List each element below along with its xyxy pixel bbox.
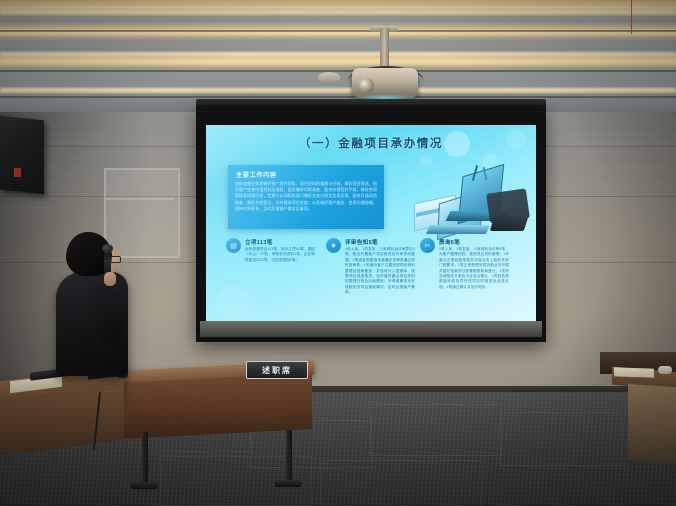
smoke-detector-icon [318, 72, 340, 82]
slide-title: （一）金融项目承办情况 [206, 135, 536, 151]
dark-device-base [490, 217, 529, 231]
ceiling-light-strip [0, 88, 676, 93]
wall-speaker-icon [0, 116, 44, 195]
microphone-head-icon [102, 244, 113, 253]
column-body: 1笔入库、1笔发放、入库资料及评审6笔，为客户整理归档，规范项目资料管理；1年度… [439, 247, 509, 290]
highlight-box-heading: 主要工作内容 [236, 170, 277, 179]
object-on-right-table [658, 366, 672, 374]
screen-bottom-bar [200, 321, 542, 337]
document-icon: ▤ [226, 238, 241, 253]
podium-leg [142, 432, 148, 484]
podium-body [120, 373, 312, 439]
podium-sign: 述职席 [246, 361, 308, 379]
papers-on-right-table [614, 367, 654, 377]
presenter-hand [104, 272, 116, 286]
ceiling [0, 0, 676, 112]
podium-foot [130, 482, 158, 489]
ceiling-seam [0, 70, 676, 72]
column-heading: 评审告知5笔 [345, 238, 378, 246]
projector-lens-icon [359, 78, 374, 93]
podium-foot [274, 480, 302, 487]
conference-room-photo: （一）金融项目承办情况 主要工作内容 协助金融业务部做好推广宣传资料、项目资料的… [0, 0, 676, 506]
speaker-logo [14, 168, 21, 177]
window-frame-reflection [106, 198, 174, 200]
ceiling-seam [0, 30, 676, 32]
ceiling-seam [0, 96, 676, 98]
ceiling-wire [631, 0, 633, 34]
ceiling-light-strip [0, 52, 676, 57]
podium-sign-text: 述职席 [262, 365, 292, 376]
carpet-tile [370, 404, 502, 456]
wall-shadow-right [556, 112, 676, 392]
column-heading: 立项113笔 [245, 238, 273, 246]
column-body: 4月入库、1项发放、入库资料及评审意见2笔，配合开展客户项目推进及评审资料整理，… [345, 247, 415, 296]
globe-icon: ✷ [326, 238, 341, 253]
tools-icon: ✂ [420, 238, 435, 253]
carpet-tile [500, 412, 622, 466]
podium-leg [286, 430, 292, 482]
ceiling-light-strip [0, 10, 676, 15]
column-body: 全年受理项目113笔，其中立项41笔，退回（中止）17笔，审核补充资料1笔，正在… [245, 247, 315, 263]
slide-columns: ▤ 立项113笔 全年受理项目113笔，其中立项41笔，退回（中止）17笔，审核… [226, 237, 526, 307]
laptop-base [426, 225, 490, 234]
slide-highlight-box: 主要工作内容 协助金融业务部做好推广宣传资料、项目资料的整理与归档，做好项目筛选… [228, 165, 384, 229]
carpet-tile [320, 460, 482, 506]
column-heading: 质询6笔 [439, 238, 460, 246]
projected-slide: （一）金融项目承办情况 主要工作内容 协助金融业务部做好推广宣传资料、项目资料的… [206, 125, 536, 321]
highlight-box-body: 协助金融业务部做好推广宣传资料、项目资料的整理与归档，做好项目筛选、指导客户完善… [235, 181, 377, 212]
window-frame-reflection [104, 168, 180, 258]
right-table-body [628, 384, 676, 464]
